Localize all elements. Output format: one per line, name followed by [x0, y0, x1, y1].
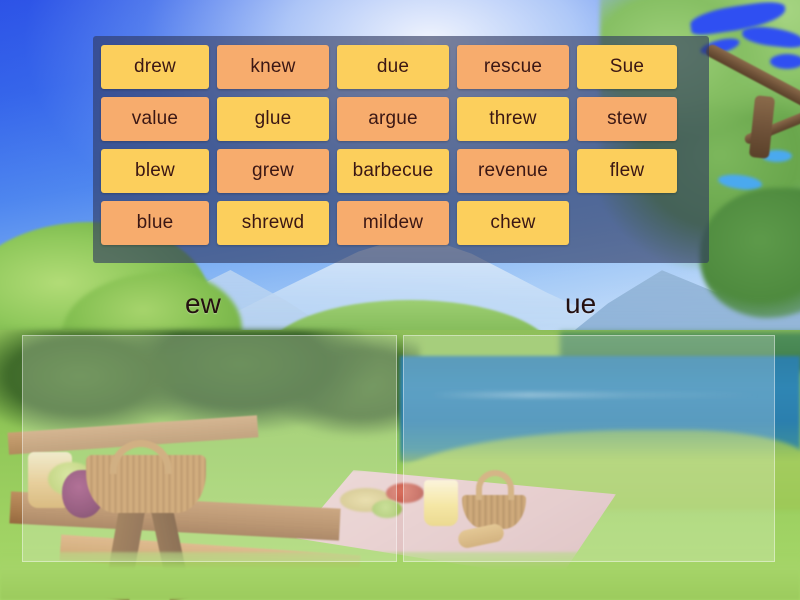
word-tile[interactable]: threw [457, 97, 569, 141]
tree-branch [704, 43, 800, 111]
word-bank-row: drewknewduerescueSue [101, 45, 701, 89]
mountain-left [120, 262, 350, 342]
canopy-sky-gap [770, 54, 800, 69]
word-tile[interactable]: grew [217, 149, 329, 193]
canopy-sky-gap [717, 171, 763, 192]
word-tile[interactable]: drew [101, 45, 209, 89]
word-tile[interactable]: barbecue [337, 149, 449, 193]
word-tile[interactable]: flew [577, 149, 677, 193]
category-label-ue: ue [565, 288, 596, 320]
tree-branch [749, 95, 775, 159]
word-tile[interactable]: mildew [337, 201, 449, 245]
game-stage: drewknewduerescueSuevaluegluearguethrews… [0, 0, 800, 600]
word-tile[interactable]: blue [101, 201, 209, 245]
word-tile[interactable]: Sue [577, 45, 677, 89]
canopy-sky-gap [741, 25, 800, 49]
word-bank-panel: drewknewduerescueSuevaluegluearguethrews… [93, 36, 709, 263]
word-tile[interactable]: stew [577, 97, 677, 141]
word-tile[interactable]: glue [217, 97, 329, 141]
word-tile[interactable]: argue [337, 97, 449, 141]
word-bank-row: blewgrewbarbecuerevenueflew [101, 149, 701, 193]
word-tile[interactable]: due [337, 45, 449, 89]
dark-leaf-clump [700, 188, 800, 318]
word-tile[interactable]: shrewd [217, 201, 329, 245]
drop-zone-ew[interactable] [22, 335, 397, 562]
word-tile[interactable]: blew [101, 149, 209, 193]
word-tile[interactable]: value [101, 97, 209, 141]
word-bank-row: valuegluearguethrewstew [101, 97, 701, 141]
drop-zone-ue[interactable] [403, 335, 775, 562]
word-tile[interactable]: chew [457, 201, 569, 245]
word-bank-row: blueshrewdmildewchew [101, 201, 701, 245]
word-tile[interactable]: revenue [457, 149, 569, 193]
word-tile[interactable]: rescue [457, 45, 569, 89]
category-label-ew: ew [185, 288, 221, 320]
word-tile[interactable]: knew [217, 45, 329, 89]
